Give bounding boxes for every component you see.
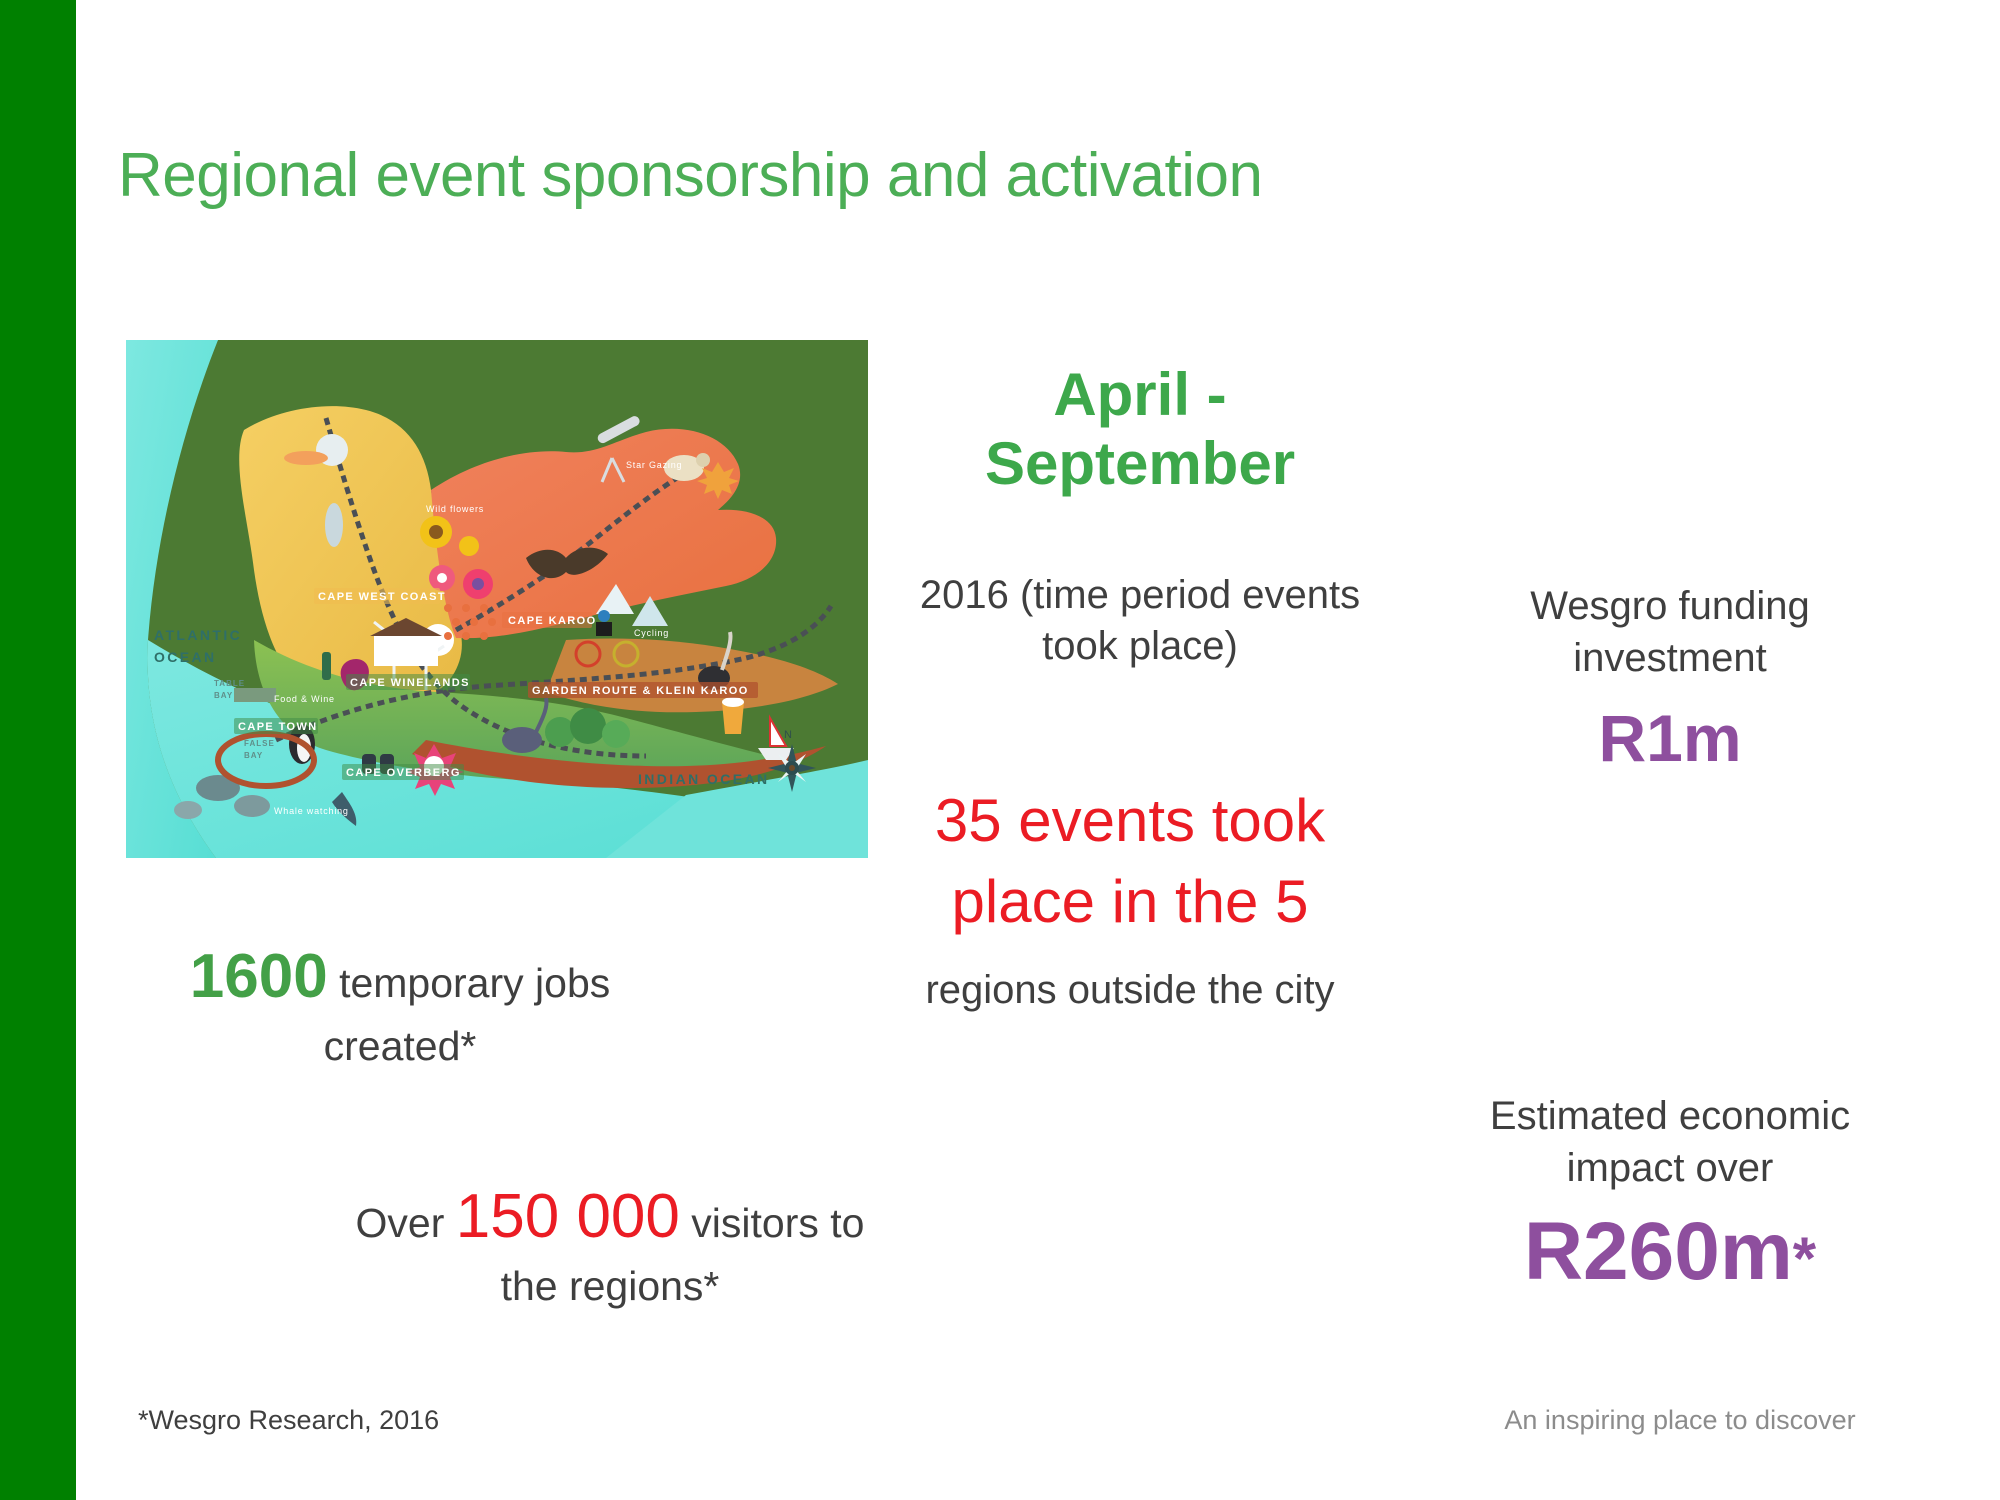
left-accent-bar xyxy=(0,0,76,1500)
map-label-cape-karoo-group: CAPE KAROO xyxy=(502,612,597,628)
stat-visitors-number: 150 000 xyxy=(456,1182,680,1251)
map-label-star-gazing: Star Gazing xyxy=(626,460,682,470)
map-label-indian-ocean: INDIAN OCEAN xyxy=(638,771,769,787)
period-heading: April - September xyxy=(900,360,1380,498)
tree-3-icon xyxy=(602,720,630,748)
impact-label: Estimated economic impact over xyxy=(1430,1090,1910,1194)
sunflower-center xyxy=(429,525,443,539)
stat-events: 35 events took place in the 5 regions ou… xyxy=(900,780,1360,1023)
beer-foam xyxy=(722,697,744,707)
stat-events-tail: regions outside the city xyxy=(925,968,1334,1012)
map-label-food-and-wine: Food & Wine xyxy=(274,694,335,704)
wine-bottle-icon xyxy=(322,652,331,680)
svg-text:CAPE OVERBERG: CAPE OVERBERG xyxy=(346,767,461,779)
svg-text:CAPE TOWN: CAPE TOWN xyxy=(238,721,318,733)
map-label-false-bay-2: BAY xyxy=(244,751,263,760)
impact-value-asterisk: * xyxy=(1793,1225,1816,1292)
stat-events-number-phrase: 35 events took place in the 5 xyxy=(935,787,1325,935)
surfboard-icon xyxy=(284,451,328,465)
stat-visitors-prefix: Over xyxy=(356,1200,456,1246)
funding-value: R1m xyxy=(1440,700,1900,776)
map-label-table-bay: TABLE xyxy=(214,679,245,688)
map-label-garden-route-group: GARDEN ROUTE & KLEIN KAROO xyxy=(528,682,758,698)
seal-rock-3-icon xyxy=(174,801,202,819)
map-label-atlantic-ocean: ATLANTIC xyxy=(154,627,242,643)
slide-canvas: Regional event sponsorship and activatio… xyxy=(0,0,2000,1500)
funding-label: Wesgro funding investment xyxy=(1440,580,1900,684)
tree-2-icon xyxy=(570,708,606,744)
map-label-cape-west-coast-group: CAPE WEST COAST xyxy=(314,588,446,604)
seal-rock-2-icon xyxy=(234,795,270,817)
tree-icon xyxy=(545,717,575,747)
cape-dutch-house xyxy=(374,636,438,666)
period-subtext: 2016 (time period events took place) xyxy=(890,570,1390,672)
map-label-cape-overberg-group: CAPE OVERBERG xyxy=(342,764,464,780)
map-label-wild-flowers: Wild flowers xyxy=(426,504,484,514)
svg-text:CAPE WEST COAST: CAPE WEST COAST xyxy=(318,591,446,603)
stat-jobs-text: temporary jobs created* xyxy=(324,960,611,1069)
cyclist-helmet xyxy=(598,610,610,622)
map-label-cape-winelands-group: CAPE WINELANDS xyxy=(346,674,470,690)
stat-visitors: Over 150 000 visitors to the regions* xyxy=(330,1175,890,1314)
map-label-table-bay-2: BAY xyxy=(214,691,233,700)
stat-jobs-number: 1600 xyxy=(190,942,328,1011)
map-label-cycling: Cycling xyxy=(634,628,669,638)
table-mountain-icon xyxy=(234,688,276,702)
impact-value-amount: R260m xyxy=(1524,1206,1793,1297)
svg-text:GARDEN ROUTE & KLEIN KAROO: GARDEN ROUTE & KLEIN KAROO xyxy=(532,685,749,697)
pink-flower-2-center xyxy=(472,578,484,590)
map-label-cape-town-group: CAPE TOWN xyxy=(234,718,318,734)
svg-text:N: N xyxy=(784,729,792,741)
cyclist-body xyxy=(596,622,612,636)
page-title: Regional event sponsorship and activatio… xyxy=(118,140,1262,211)
svg-text:CAPE KAROO: CAPE KAROO xyxy=(508,615,597,627)
sheep-head xyxy=(696,453,710,467)
svg-text:CAPE WINELANDS: CAPE WINELANDS xyxy=(350,677,470,689)
source-footnote: *Wesgro Research, 2016 xyxy=(138,1405,439,1436)
western-cape-map-image: ATLANTIC OCEAN INDIAN OCEAN Wild flowers… xyxy=(126,340,868,858)
map-label-atlantic-ocean-2: OCEAN xyxy=(154,649,217,665)
map-illustration-svg: ATLANTIC OCEAN INDIAN OCEAN Wild flowers… xyxy=(126,340,868,858)
fish-icon xyxy=(325,503,343,547)
map-label-false-bay: FALSE xyxy=(244,739,275,748)
stat-temporary-jobs: 1600 temporary jobs created* xyxy=(120,935,680,1074)
impact-value: R260m* xyxy=(1430,1205,1910,1299)
brand-tagline: An inspiring place to discover xyxy=(1440,1405,1920,1436)
flower-small-icon xyxy=(459,536,479,556)
map-label-whale-watching: Whale watching xyxy=(274,806,349,816)
pink-flower-center xyxy=(437,573,447,583)
